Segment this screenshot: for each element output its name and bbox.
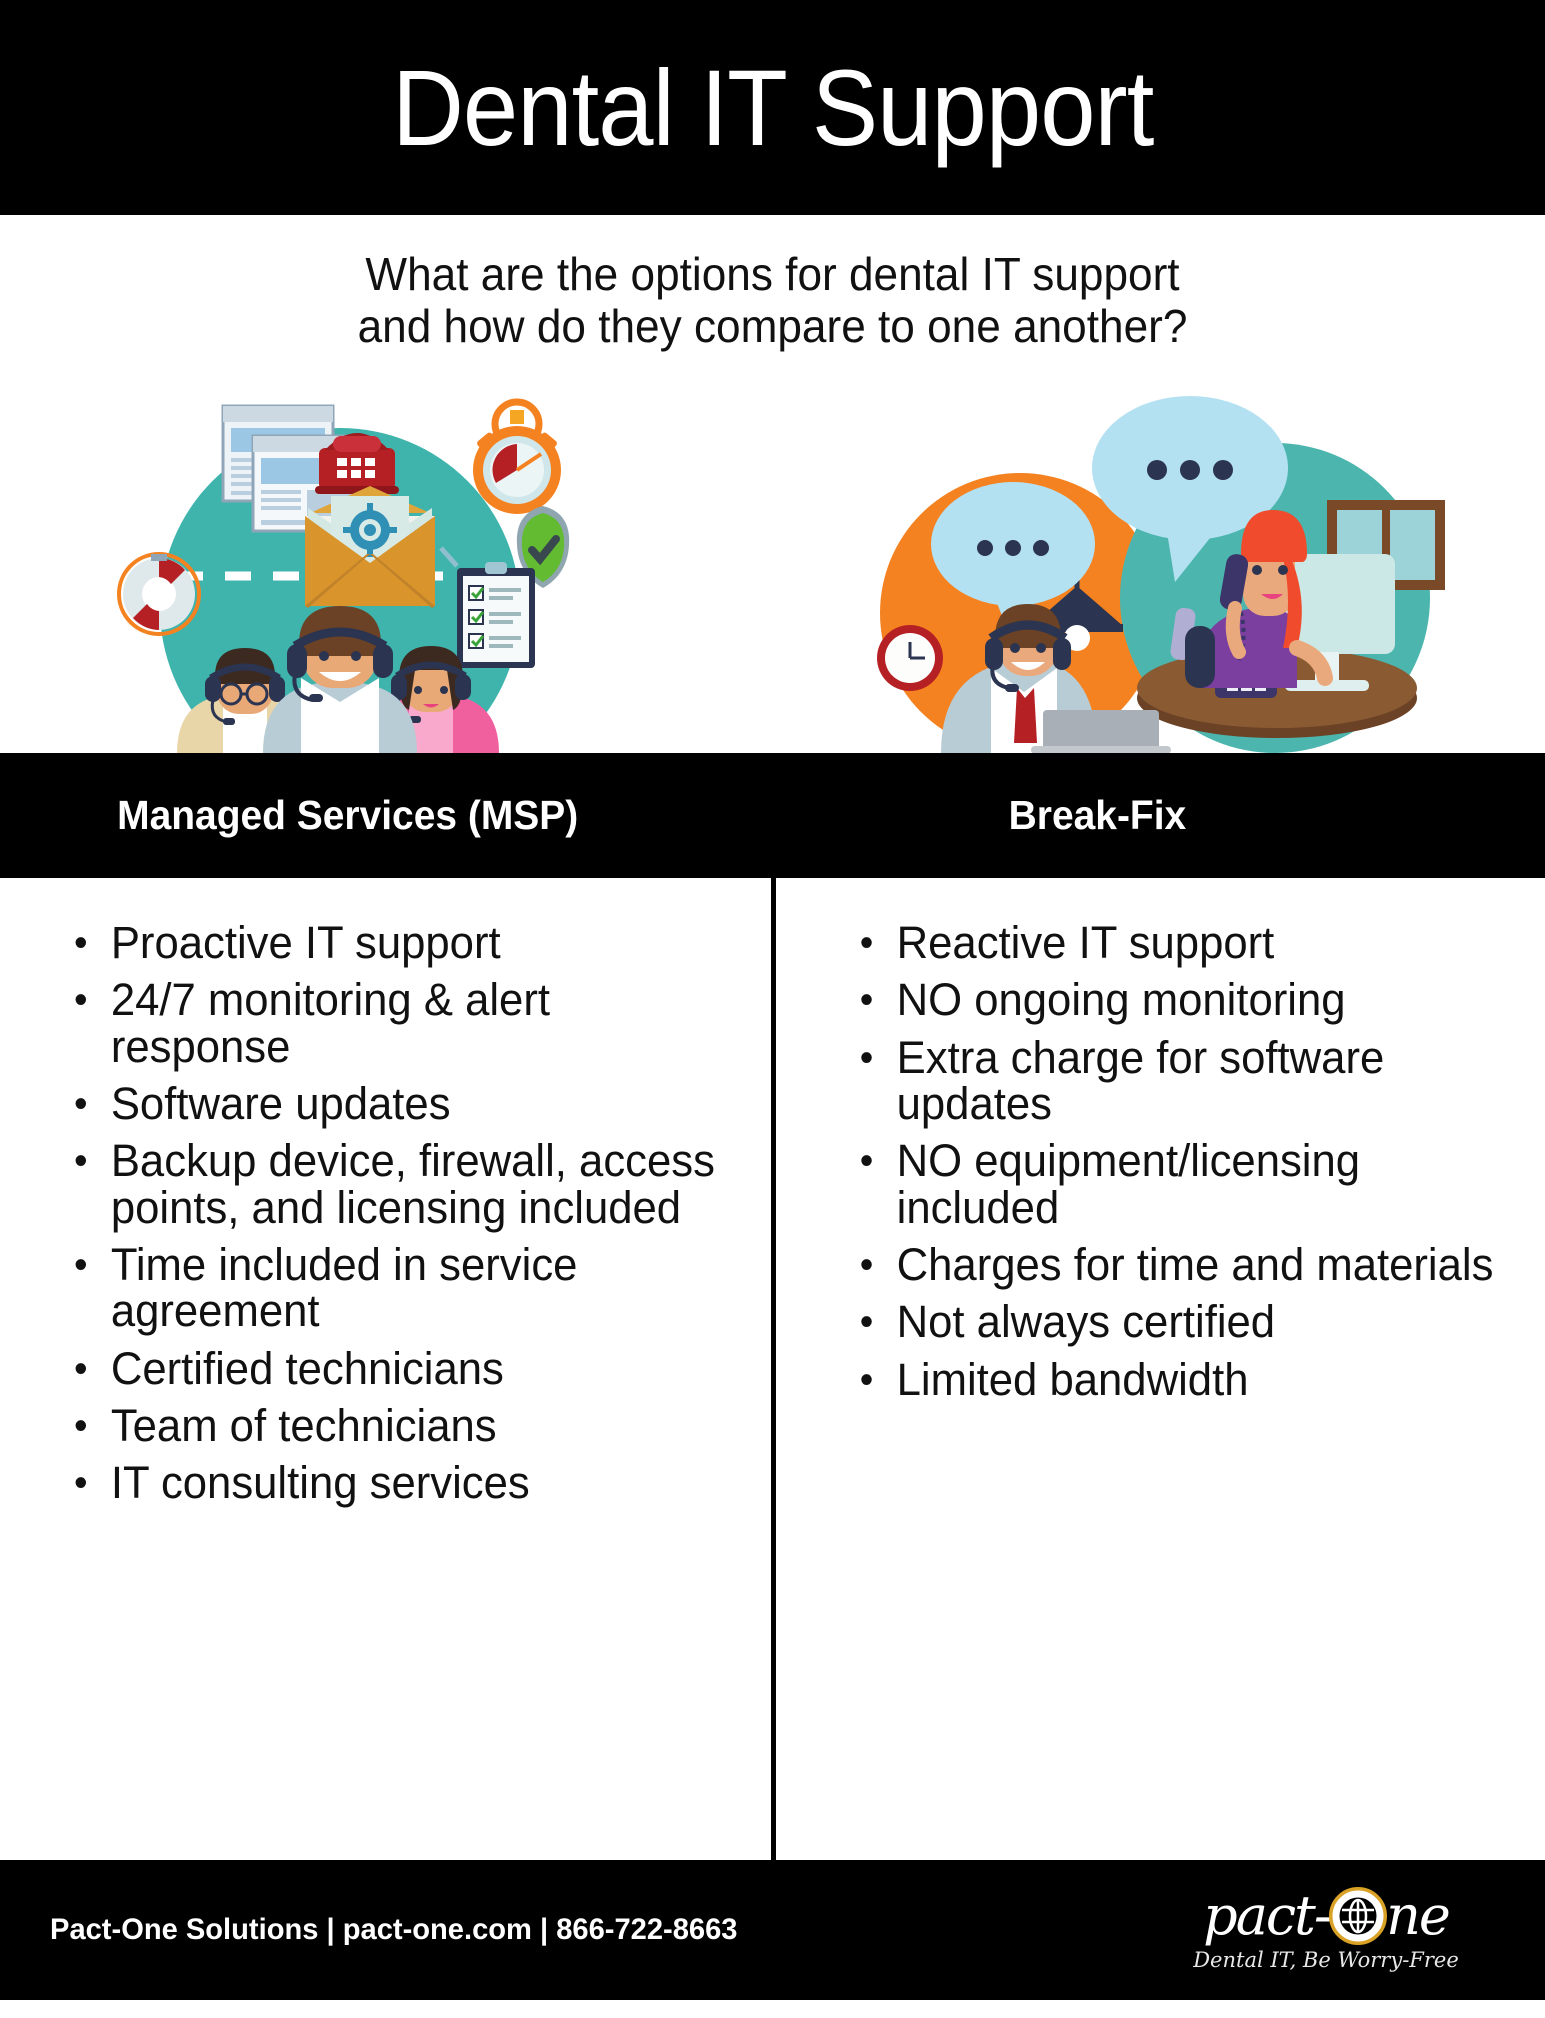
- bullet-icon: •: [74, 1245, 88, 1285]
- list-item-label: Software updates: [111, 1078, 451, 1129]
- break-fix-callcenter-illustration: [845, 358, 1465, 753]
- bullet-icon: •: [860, 1302, 874, 1342]
- list-item-label: Proactive IT support: [111, 917, 501, 968]
- bullet-icon: •: [74, 1141, 88, 1181]
- logo-tagline: Dental IT, Be Worry-Free: [1131, 1948, 1521, 1972]
- list-item-label: NO equipment/licensing included: [897, 1135, 1360, 1232]
- logo-word-left: pact-: [1203, 1889, 1330, 1943]
- list-item: •Not always certified: [842, 1299, 1508, 1345]
- bullet-icon: •: [74, 980, 88, 1020]
- column-header-band: Managed Services (MSP) Break-Fix: [0, 753, 1545, 878]
- list-item: •Time included in service agreement: [57, 1242, 736, 1335]
- list-item: •Charges for time and materials: [842, 1242, 1508, 1288]
- list-item-label: Extra charge for software updates: [897, 1032, 1385, 1129]
- bullet-icon: •: [74, 1084, 88, 1124]
- bullet-icon: •: [860, 1245, 874, 1285]
- list-item-label: Reactive IT support: [897, 917, 1275, 968]
- breakfix-bullet-list: •Reactive IT support •NO ongoing monitor…: [832, 920, 1519, 1403]
- list-item: •Reactive IT support: [842, 920, 1508, 966]
- page-title: Dental IT Support: [392, 45, 1153, 170]
- list-item: •Proactive IT support: [57, 920, 736, 966]
- bullet-icon: •: [74, 923, 88, 963]
- list-item: •Team of technicians: [57, 1403, 736, 1449]
- illustration-row: [0, 358, 1545, 753]
- list-item-label: Team of technicians: [111, 1400, 497, 1451]
- logo-word-right: ne: [1386, 1889, 1449, 1943]
- list-item-label: Not always certified: [897, 1296, 1275, 1347]
- list-item-label: Certified technicians: [111, 1343, 504, 1394]
- list-item: •NO equipment/licensing included: [842, 1138, 1508, 1231]
- globe-ring-icon: [1328, 1886, 1388, 1946]
- list-item: •Extra charge for software updates: [842, 1035, 1508, 1128]
- list-item-label: IT consulting services: [111, 1457, 530, 1508]
- list-item: •Software updates: [57, 1081, 736, 1127]
- list-item-label: Limited bandwidth: [897, 1354, 1249, 1405]
- subtitle-block: What are the options for dental IT suppo…: [0, 215, 1545, 358]
- list-item-label: Time included in service agreement: [111, 1239, 578, 1336]
- list-item: •Backup device, firewall, access points,…: [57, 1138, 736, 1231]
- wall-clock-icon: [877, 625, 943, 691]
- list-item-label: 24/7 monitoring & alert response: [111, 974, 550, 1071]
- stopwatch-icon: [473, 402, 561, 514]
- bullet-icon: •: [860, 1141, 874, 1181]
- list-item: •Certified technicians: [57, 1346, 736, 1392]
- pact-one-logo: pact- ne Dental IT, Be Worry-Free: [1131, 1882, 1521, 1986]
- list-item-label: NO ongoing monitoring: [897, 974, 1346, 1025]
- column-heading-msp: Managed Services (MSP): [0, 792, 770, 839]
- bullet-icon: •: [74, 1349, 88, 1389]
- title-band: Dental IT Support: [0, 0, 1545, 215]
- subtitle-line-1: What are the options for dental IT suppo…: [108, 249, 1438, 301]
- list-item: •Limited bandwidth: [842, 1357, 1508, 1403]
- column-heading-breakfix: Break-Fix: [770, 792, 1545, 839]
- list-item: •24/7 monitoring & alert response: [57, 977, 736, 1070]
- column-heading-breakfix-label: Break-Fix: [1009, 792, 1187, 839]
- bullet-icon: •: [74, 1406, 88, 1446]
- comparison-columns: •Proactive IT support •24/7 monitoring &…: [0, 878, 1545, 2018]
- bullet-icon: •: [74, 1463, 88, 1503]
- msp-bullet-column: •Proactive IT support •24/7 monitoring &…: [0, 878, 772, 2018]
- footer-contact-text: Pact-One Solutions | pact-one.com | 866-…: [11, 1913, 737, 1947]
- lifebuoy-icon: [119, 554, 199, 634]
- list-item-label: Backup device, firewall, access points, …: [111, 1135, 715, 1232]
- breakfix-bullet-column: •Reactive IT support •NO ongoing monitor…: [772, 878, 1545, 2018]
- bullet-icon: •: [860, 980, 874, 1020]
- bullet-icon: •: [860, 1038, 874, 1078]
- bullet-icon: •: [860, 923, 874, 963]
- msp-bullet-list: •Proactive IT support •24/7 monitoring &…: [46, 920, 746, 1507]
- bullet-icon: •: [860, 1360, 874, 1400]
- list-item: •IT consulting services: [57, 1460, 736, 1506]
- footer-band: Pact-One Solutions | pact-one.com | 866-…: [0, 1860, 1545, 2000]
- list-item: •NO ongoing monitoring: [842, 977, 1508, 1023]
- list-item-label: Charges for time and materials: [897, 1239, 1494, 1290]
- subtitle-line-2: and how do they compare to one another?: [108, 301, 1438, 353]
- managed-services-team-illustration: [105, 358, 575, 753]
- column-heading-msp-label: Managed Services (MSP): [117, 792, 578, 839]
- column-divider: [771, 878, 776, 1988]
